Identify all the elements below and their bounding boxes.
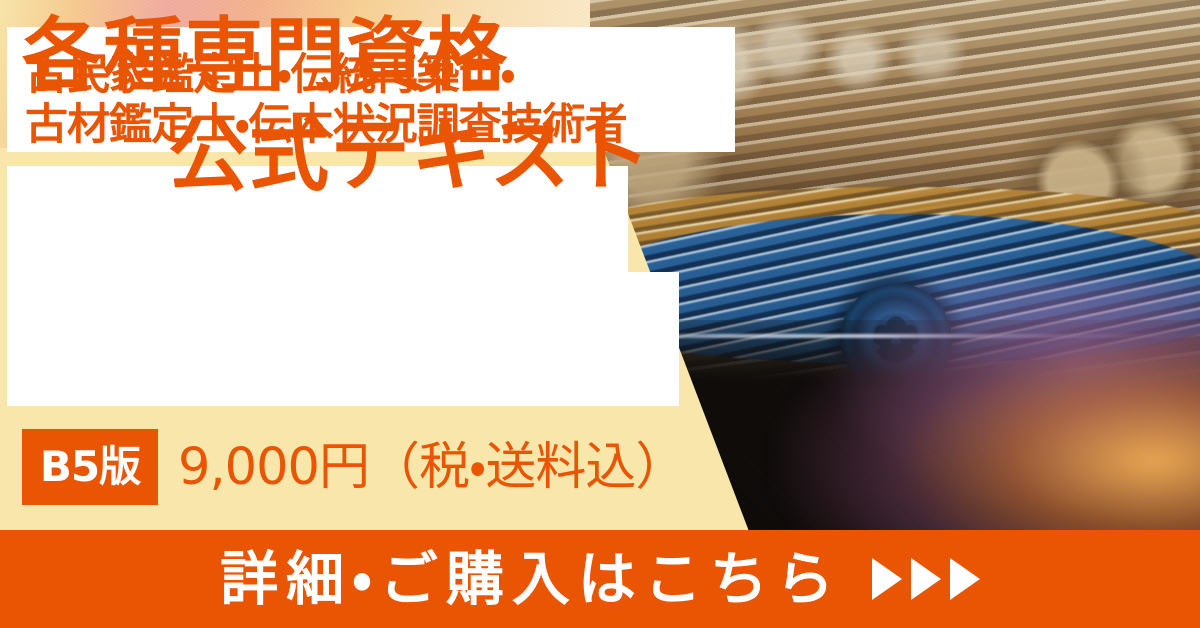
title-panel	[7, 166, 679, 406]
cta-button[interactable]: 詳細・ご購入はこちら	[0, 530, 1200, 628]
price-amount: 9,000円（税・送料込）	[178, 442, 685, 493]
price-row: B5版 9,000円（税・送料込）	[22, 429, 685, 505]
cta-arrow-group	[872, 558, 980, 600]
triangle-right-icon	[950, 558, 980, 600]
triangle-right-icon	[911, 558, 941, 600]
title-line-2: 公式テキスト	[168, 116, 652, 196]
cta-label: 詳細・ご購入はこちら	[220, 550, 842, 608]
title-line-1: 各種専門資格	[22, 16, 508, 96]
format-badge: B5版	[22, 429, 158, 505]
promo-banner: 古民家 伝統構法、古民家活用のための調査と再生の 古民家鑑定士・伝統再築士・ 古…	[0, 0, 1200, 628]
warm-glow	[773, 278, 1200, 534]
triangle-right-icon	[872, 558, 902, 600]
